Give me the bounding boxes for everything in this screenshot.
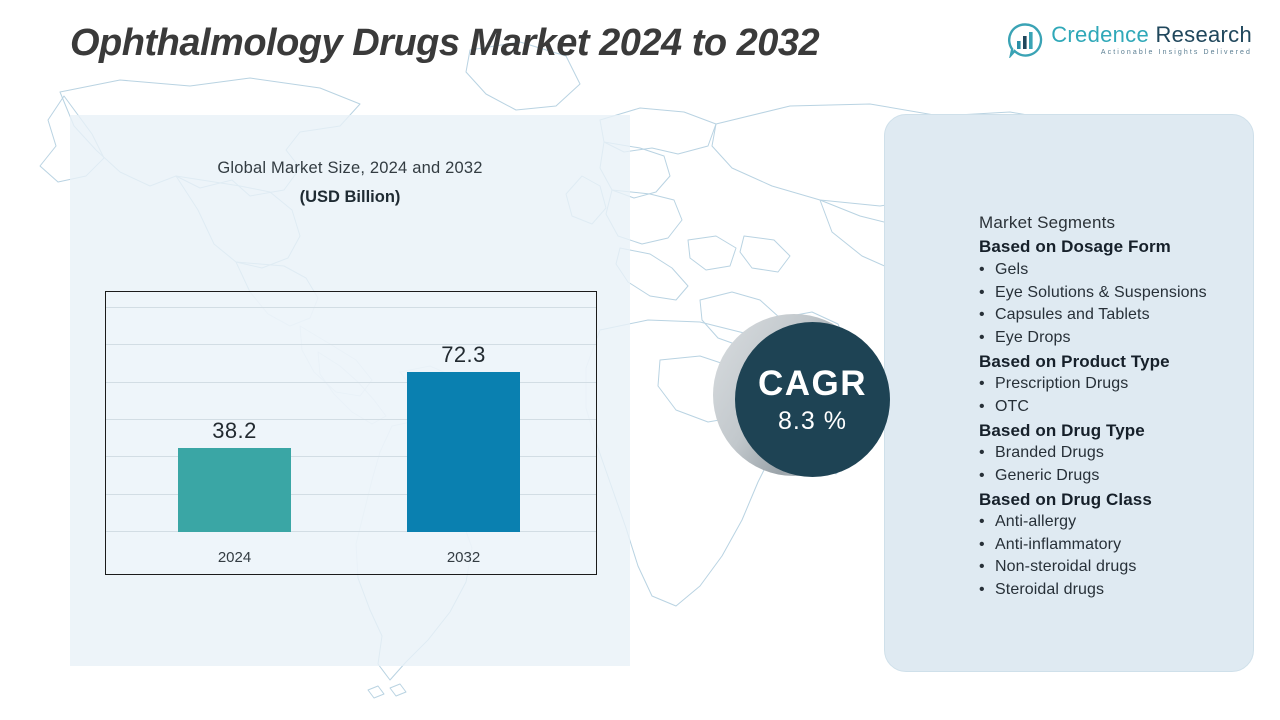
bar-chart-circle-icon [1007,22,1042,57]
bullet-icon: • [979,534,995,557]
bullet-icon: • [979,396,995,419]
segment-item-label: OTC [995,396,1029,419]
segment-item-label: Non-steroidal drugs [995,556,1137,579]
gridline [106,307,596,308]
segment-item-label: Prescription Drugs [995,373,1128,396]
segment-item-label: Anti-inflammatory [995,534,1121,557]
market-segments-list: Based on Dosage Form•Gels•Eye Solutions … [979,235,1253,601]
segment-item: •Generic Drugs [979,465,1253,488]
segment-item: •Eye Drops [979,327,1253,350]
segment-item-label: Generic Drugs [995,465,1099,488]
cagr-label: CAGR [758,366,867,401]
gridline [106,344,596,345]
bar-category-2024: 2024 [178,549,291,566]
bar-chart-plot-area: 38.2202472.32032 [105,291,597,575]
bullet-icon: • [979,511,995,534]
segment-item-label: Eye Drops [995,327,1071,350]
bar-category-2032: 2032 [407,549,520,566]
cagr-circle: CAGR 8.3 % [735,322,890,477]
segment-item-label: Capsules and Tablets [995,304,1150,327]
page-title: Ophthalmology Drugs Market 2024 to 2032 [70,22,819,65]
bullet-icon: • [979,373,995,396]
brand-name-part1: Credence [1051,22,1149,47]
bullet-icon: • [979,304,995,327]
cagr-badge: CAGR 8.3 % [713,314,883,484]
brand-tagline: Actionable Insights Delivered [1051,49,1252,56]
bullet-icon: • [979,579,995,602]
chart-title: Global Market Size, 2024 and 2032 [70,159,630,178]
segment-item-label: Gels [995,259,1028,282]
cagr-value: 8.3 % [778,409,847,434]
chart-subtitle: (USD Billion) [70,188,630,207]
segment-group-title-3: Based on Drug Class [979,488,1253,511]
segment-item: •Non-steroidal drugs [979,556,1253,579]
segment-group-title-2: Based on Drug Type [979,419,1253,442]
segment-item: •Anti-allergy [979,511,1253,534]
segment-item-label: Branded Drugs [995,442,1104,465]
market-size-chart-panel: Global Market Size, 2024 and 2032 (USD B… [70,115,630,666]
segment-item-label: Eye Solutions & Suspensions [995,282,1207,305]
segment-item: •Gels [979,259,1253,282]
bullet-icon: • [979,442,995,465]
segment-item: •Eye Solutions & Suspensions [979,282,1253,305]
brand-name: Credence Research [1051,23,1252,46]
brand-name-part2: Research [1155,22,1252,47]
brand-text: Credence Research Actionable Insights De… [1051,23,1252,55]
segment-group-title-1: Based on Product Type [979,350,1253,373]
bar-2024 [178,448,291,532]
market-segments-heading: Market Segments [979,211,1253,234]
bullet-icon: • [979,327,995,350]
segment-item: •Branded Drugs [979,442,1253,465]
segment-group-title-0: Based on Dosage Form [979,235,1253,258]
segment-item-label: Anti-allergy [995,511,1076,534]
segment-item: •Prescription Drugs [979,373,1253,396]
segment-item: •Steroidal drugs [979,579,1253,602]
segment-item: •Anti-inflammatory [979,534,1253,557]
segment-item: •Capsules and Tablets [979,304,1253,327]
brand-logo: Credence Research Actionable Insights De… [1007,22,1252,57]
bar-2032 [407,372,520,532]
gridline [106,382,596,383]
bullet-icon: • [979,259,995,282]
segment-item: •OTC [979,396,1253,419]
bar-value-2024: 38.2 [178,418,291,444]
bullet-icon: • [979,465,995,488]
bar-value-2032: 72.3 [407,342,520,368]
segment-item-label: Steroidal drugs [995,579,1104,602]
bullet-icon: • [979,282,995,305]
bullet-icon: • [979,556,995,579]
market-segments-panel: Market Segments Based on Dosage Form•Gel… [884,114,1254,672]
header: Ophthalmology Drugs Market 2024 to 2032 … [0,0,1280,96]
